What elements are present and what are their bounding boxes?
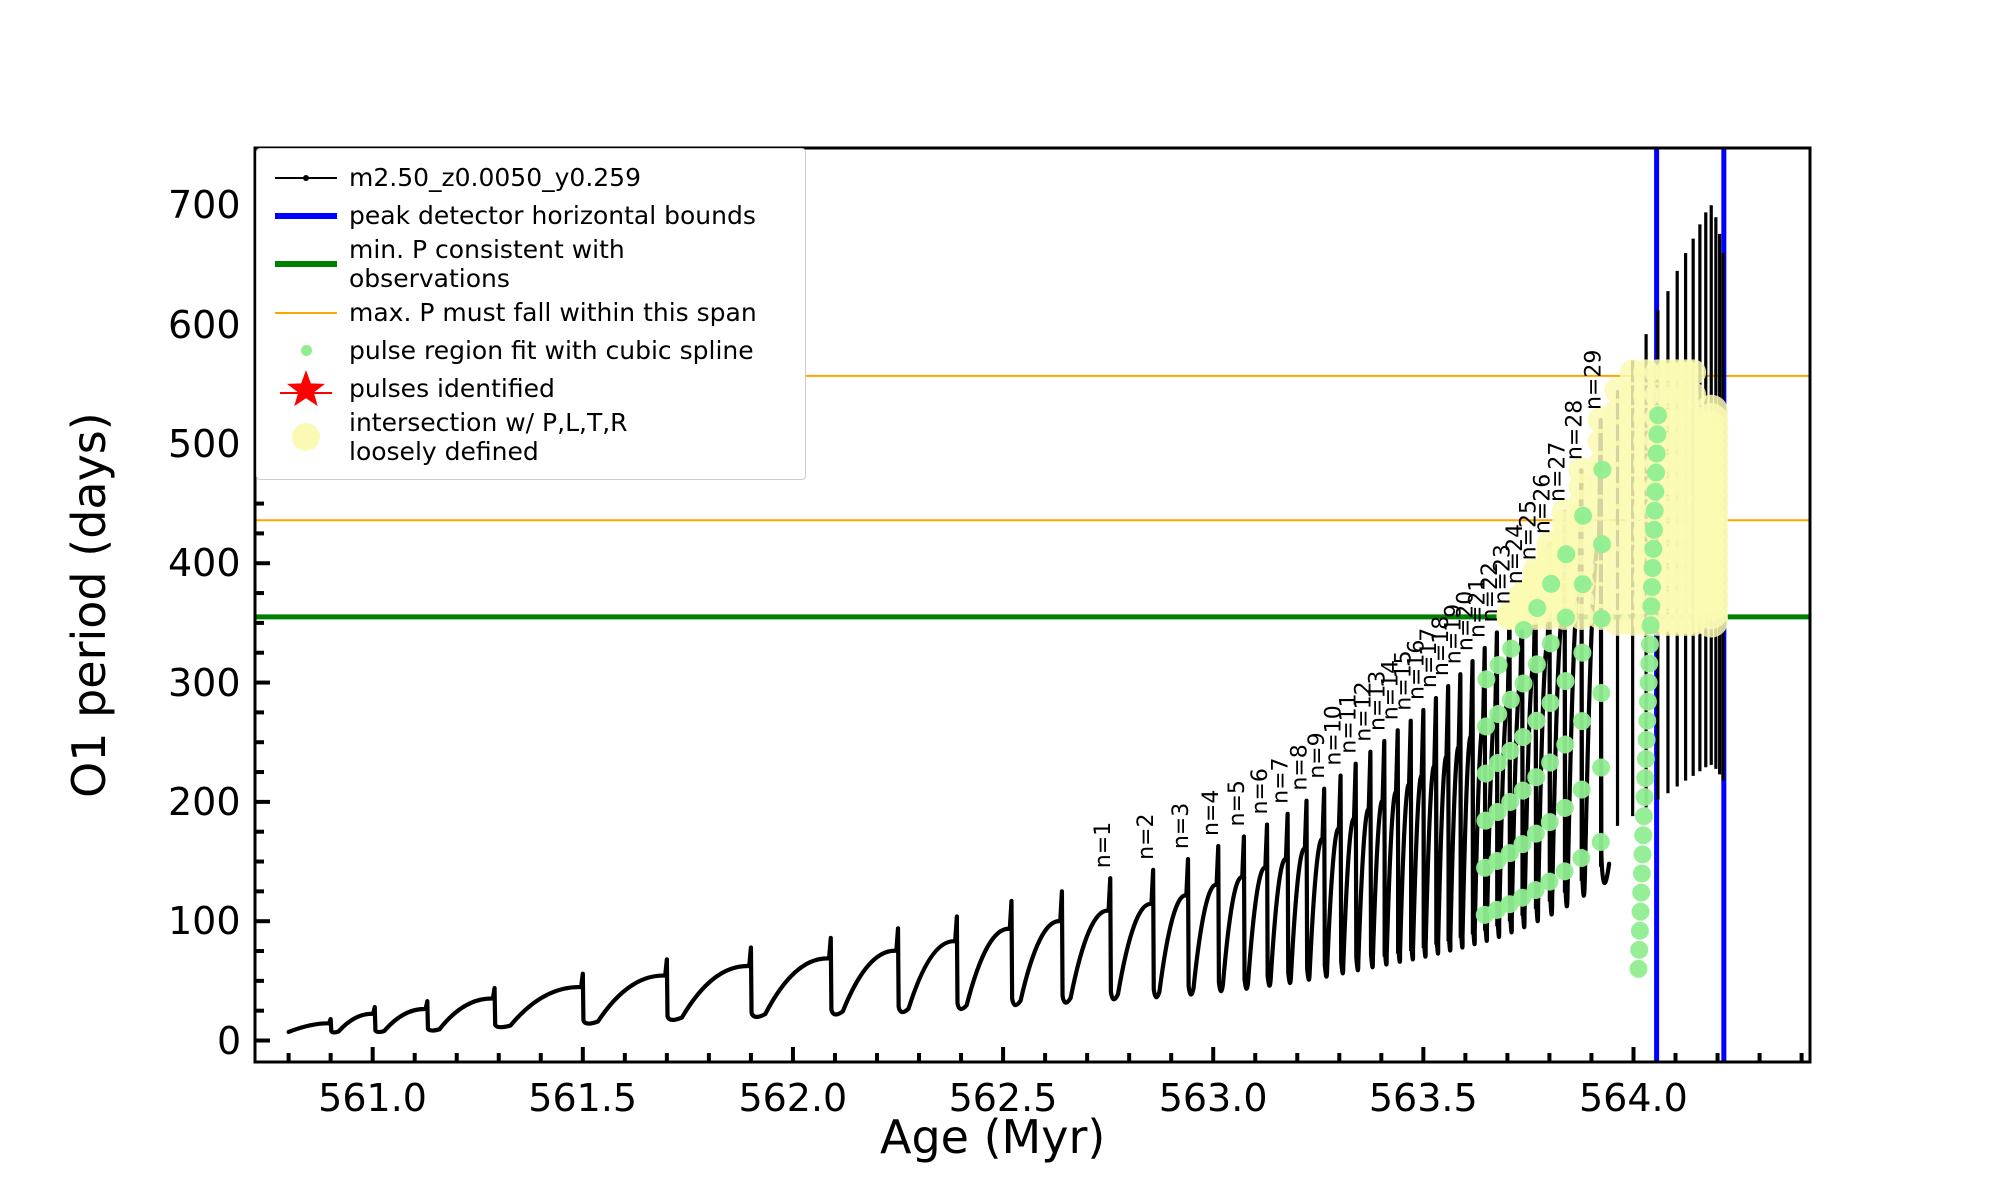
legend-item: pulses identified bbox=[269, 370, 793, 407]
legend-item: intersection w/ P,L,T,R loosely defined bbox=[269, 408, 793, 466]
legend-dot-swatch bbox=[269, 334, 343, 368]
spline-dot bbox=[1573, 712, 1591, 730]
spline-dot bbox=[1541, 694, 1559, 712]
x-tick-label: 562.5 bbox=[949, 1076, 1058, 1120]
spline-dot bbox=[1489, 705, 1507, 723]
spline-dot bbox=[1557, 672, 1575, 690]
spline-dot bbox=[1641, 635, 1659, 653]
spline-dot bbox=[1638, 731, 1656, 749]
legend-dot-icon bbox=[292, 423, 320, 451]
spline-dot bbox=[1593, 535, 1611, 553]
spline-dot bbox=[1527, 768, 1545, 786]
legend-item: peak detector horizontal bounds bbox=[269, 197, 793, 234]
spline-dot bbox=[1502, 691, 1520, 709]
spline-dot bbox=[1540, 873, 1558, 891]
legend-item-label: peak detector horizontal bounds bbox=[343, 201, 756, 230]
intersection-blob bbox=[1680, 359, 1706, 385]
spline-dot bbox=[1592, 684, 1610, 702]
y-tick-label: 600 bbox=[168, 303, 241, 347]
spline-dot bbox=[1649, 406, 1667, 424]
x-tick-label: 562.0 bbox=[738, 1076, 847, 1120]
spline-dot bbox=[1592, 759, 1610, 777]
spline-dot bbox=[1632, 884, 1650, 902]
intersection-blob bbox=[1694, 395, 1728, 429]
pulse-label: n=4 bbox=[1199, 790, 1224, 836]
legend-item-label: max. P must fall within this span bbox=[343, 298, 757, 327]
legend-item: pulse region fit with cubic spline bbox=[269, 332, 793, 369]
legend-line-swatch bbox=[269, 247, 343, 281]
spline-dot bbox=[1640, 654, 1658, 672]
spline-dot bbox=[1648, 444, 1666, 462]
spline-dot bbox=[1528, 599, 1546, 617]
spline-dot bbox=[1593, 461, 1611, 479]
spline-dot bbox=[1556, 799, 1574, 817]
spline-dot bbox=[1637, 750, 1655, 768]
pulse-label: n=2 bbox=[1134, 814, 1159, 860]
legend-line-icon bbox=[275, 312, 337, 314]
y-tick-label: 400 bbox=[168, 541, 241, 585]
spline-dot bbox=[1514, 782, 1532, 800]
spline-dot bbox=[1572, 849, 1590, 867]
legend-line-swatch bbox=[269, 296, 343, 330]
spline-dot bbox=[1634, 845, 1652, 863]
spline-dot bbox=[1593, 610, 1611, 628]
legend-dot-swatch bbox=[269, 420, 343, 454]
y-tick-label: 0 bbox=[217, 1019, 241, 1063]
spline-dot bbox=[1514, 728, 1532, 746]
spline-dot bbox=[1646, 483, 1664, 501]
spline-dot bbox=[1645, 521, 1663, 539]
spline-dot bbox=[1541, 813, 1559, 831]
spline-dot bbox=[1502, 742, 1520, 760]
spline-dot bbox=[1632, 903, 1650, 921]
spline-dot bbox=[1634, 826, 1652, 844]
spline-dot bbox=[1630, 960, 1648, 978]
spline-dot bbox=[1557, 545, 1575, 563]
pulse-label: n=29 bbox=[1582, 350, 1607, 410]
x-tick-label: 561.0 bbox=[318, 1076, 427, 1120]
legend-item-label: intersection w/ P,L,T,R loosely defined bbox=[343, 408, 628, 466]
y-tick-label: 200 bbox=[168, 780, 241, 824]
spline-dot bbox=[1630, 941, 1648, 959]
spline-dot bbox=[1477, 670, 1495, 688]
x-tick-label: 563.0 bbox=[1159, 1076, 1268, 1120]
spline-dot bbox=[1640, 674, 1658, 692]
spline-dot bbox=[1556, 862, 1574, 880]
legend-line-swatch bbox=[269, 161, 343, 195]
spline-dot bbox=[1642, 616, 1660, 634]
spline-dot bbox=[1636, 769, 1654, 787]
spline-dot bbox=[1636, 788, 1654, 806]
spline-dot bbox=[1527, 825, 1545, 843]
legend-item-label: pulse region fit with cubic spline bbox=[343, 336, 754, 365]
spline-dot bbox=[1490, 656, 1508, 674]
legend-item-label: min. P consistent with observations bbox=[343, 235, 793, 293]
spline-dot bbox=[1573, 644, 1591, 662]
spline-dot bbox=[1528, 712, 1546, 730]
x-tick-label: 564.0 bbox=[1579, 1076, 1688, 1120]
spline-dot bbox=[1633, 864, 1651, 882]
spline-dot bbox=[1642, 597, 1660, 615]
legend-item: min. P consistent with observations bbox=[269, 235, 793, 293]
spline-dot bbox=[1639, 693, 1657, 711]
spline-dot bbox=[1573, 781, 1591, 799]
legend-star-icon bbox=[278, 366, 334, 412]
spline-dot bbox=[1638, 712, 1656, 730]
y-tick-label: 700 bbox=[168, 183, 241, 227]
spline-dot bbox=[1644, 540, 1662, 558]
spline-dot bbox=[1643, 578, 1661, 596]
spline-dot bbox=[1644, 559, 1662, 577]
pulse-label: n=5 bbox=[1225, 780, 1250, 826]
spline-dot bbox=[1556, 736, 1574, 754]
legend-star-swatch bbox=[269, 372, 343, 406]
spline-dot bbox=[1646, 502, 1664, 520]
x-tick-label: 563.5 bbox=[1369, 1076, 1478, 1120]
legend-item-label: pulses identified bbox=[343, 374, 555, 403]
spline-dot bbox=[1648, 425, 1666, 443]
legend-item-label: m2.50_z0.0050_y0.259 bbox=[343, 163, 641, 192]
spline-dot bbox=[1502, 640, 1520, 658]
spline-dot bbox=[1592, 833, 1610, 851]
spline-dot bbox=[1574, 575, 1592, 593]
pulse-label: n=1 bbox=[1091, 822, 1116, 868]
spline-dot bbox=[1514, 675, 1532, 693]
spline-dot bbox=[1542, 634, 1560, 652]
spline-dot bbox=[1635, 807, 1653, 825]
y-tick-label: 500 bbox=[168, 422, 241, 466]
legend-item: max. P must fall within this span bbox=[269, 294, 793, 331]
legend-line-swatch bbox=[269, 199, 343, 233]
spline-dot bbox=[1647, 464, 1665, 482]
spline-dot bbox=[1542, 575, 1560, 593]
legend-line-icon bbox=[275, 261, 337, 267]
spline-dot bbox=[1515, 621, 1533, 639]
spline-dot bbox=[1528, 655, 1546, 673]
spline-dot bbox=[1557, 609, 1575, 627]
legend-item: m2.50_z0.0050_y0.259 bbox=[269, 159, 793, 196]
spline-dot bbox=[1631, 922, 1649, 940]
pulse-label: n=3 bbox=[1169, 803, 1194, 849]
legend-line-icon bbox=[275, 213, 337, 219]
y-axis-label: O1 period (days) bbox=[62, 412, 116, 798]
legend-dot-icon bbox=[301, 345, 312, 356]
y-tick-label: 100 bbox=[168, 899, 241, 943]
x-tick-label: 561.5 bbox=[528, 1076, 637, 1120]
spline-dot bbox=[1541, 754, 1559, 772]
legend: m2.50_z0.0050_y0.259peak detector horizo… bbox=[256, 148, 806, 480]
spline-dot bbox=[1574, 507, 1592, 525]
legend-marker-icon bbox=[303, 175, 309, 181]
y-tick-label: 300 bbox=[168, 661, 241, 705]
figure-canvas: n=1n=2n=3n=4n=5n=6n=7n=8n=9n=10n=11n=12n… bbox=[0, 0, 2000, 1200]
